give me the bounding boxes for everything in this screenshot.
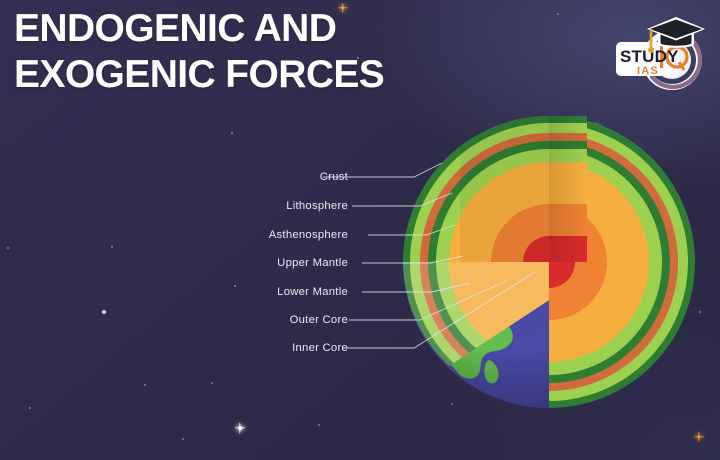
title-line-2: EXOGENIC FORCES	[14, 52, 534, 98]
leader-lithosphere	[352, 193, 452, 206]
label-lower-mantle: Lower Mantle	[277, 286, 348, 298]
logo-sub-text: IAS	[637, 65, 659, 77]
slide-canvas: Crust Lithosphere Asthenosphere Upper Ma…	[0, 0, 720, 460]
layer-label-list: Crust Lithosphere Asthenosphere Upper Ma…	[258, 160, 348, 370]
label-outer-core: Outer Core	[290, 314, 348, 326]
label-crust: Crust	[320, 171, 348, 183]
leader-outer-core	[349, 281, 506, 320]
label-lithosphere: Lithosphere	[286, 200, 348, 212]
leader-upper-mantle	[362, 256, 463, 263]
page-title: ENDOGENIC AND EXOGENIC FORCES	[14, 6, 534, 97]
studyiq-logo[interactable]: STUDY IAS	[614, 4, 710, 104]
title-line-1: ENDOGENIC AND	[14, 6, 534, 52]
leader-asthenosphere	[368, 225, 455, 235]
leader-inner-core	[342, 272, 535, 348]
leader-lower-mantle	[362, 283, 470, 292]
label-upper-mantle: Upper Mantle	[277, 257, 348, 269]
label-inner-core: Inner Core	[292, 342, 348, 354]
label-asthenosphere: Asthenosphere	[269, 229, 348, 241]
